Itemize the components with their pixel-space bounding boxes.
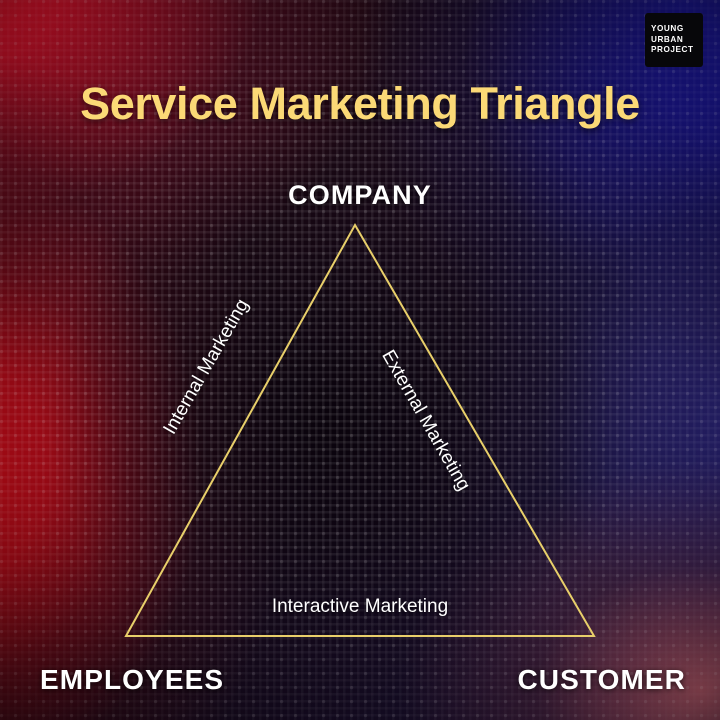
- vertex-label-company: COMPANY: [0, 180, 720, 211]
- brand-logo: YOUNG URBAN PROJECT: [645, 13, 703, 67]
- logo-line-2: URBAN: [651, 36, 683, 45]
- triangle-outline: [126, 225, 594, 636]
- vertex-label-employees: EMPLOYEES: [40, 664, 224, 696]
- vertex-label-customer: CUSTOMER: [517, 664, 686, 696]
- page-title: Service Marketing Triangle: [0, 78, 720, 130]
- poster-canvas: YOUNG URBAN PROJECT Service Marketing Tr…: [0, 0, 720, 720]
- logo-line-3: PROJECT: [651, 46, 694, 55]
- edge-label-interactive-marketing: Interactive Marketing: [0, 596, 720, 618]
- logo-line-1: YOUNG: [651, 25, 684, 34]
